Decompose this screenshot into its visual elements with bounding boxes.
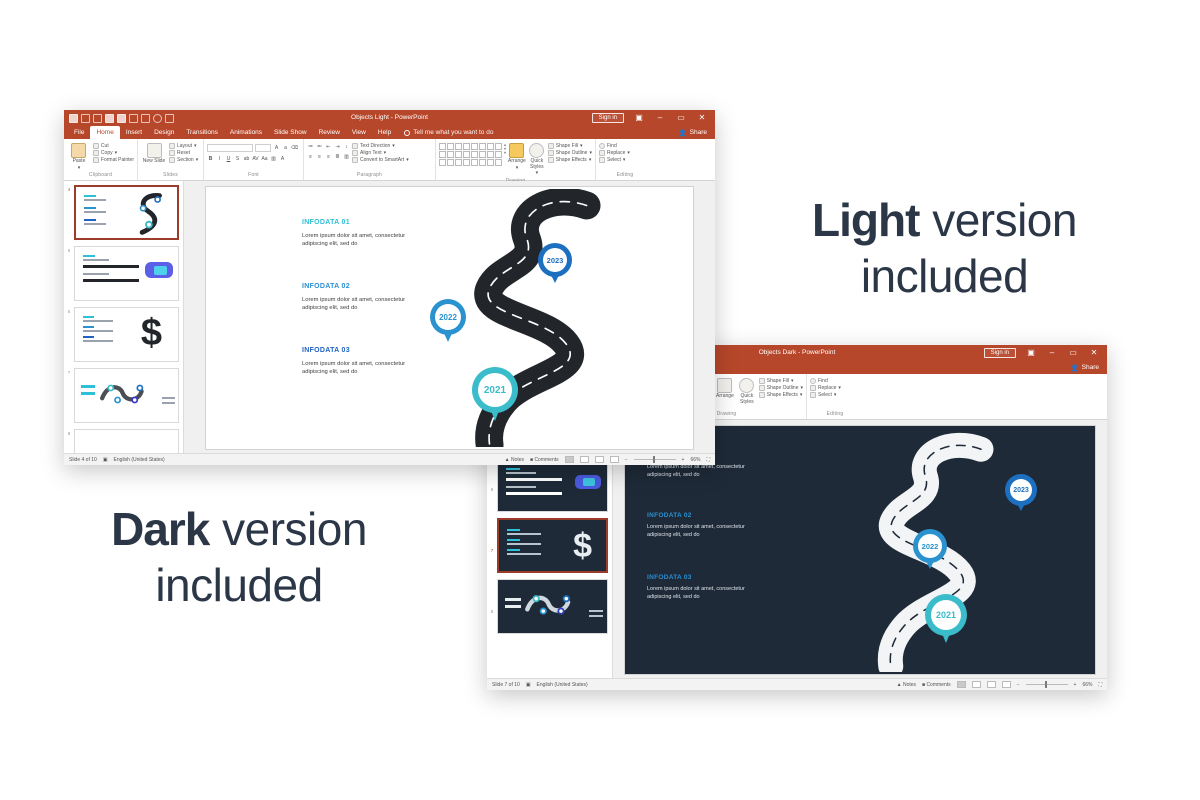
- milestone-pin-2021-dark[interactable]: 2021: [925, 594, 967, 636]
- cut-button[interactable]: Cut: [93, 143, 134, 149]
- notes-button-dark[interactable]: ▲ Notes: [897, 682, 916, 688]
- milestone-pin-2023-dark[interactable]: 2023: [1005, 474, 1037, 506]
- shape-icon[interactable]: [439, 151, 446, 158]
- zoom-slider-light[interactable]: [634, 459, 676, 460]
- pin-head: 2023: [538, 243, 572, 277]
- view-reading-dark[interactable]: [987, 681, 996, 688]
- pin-head: 2022: [913, 529, 947, 563]
- infoblock-heading: INFODATA 03: [647, 574, 767, 581]
- titlebar-light[interactable]: Objects Light - PowerPoint Sign in ▣ – ▭…: [64, 110, 715, 126]
- replace-icon-dark: [810, 385, 816, 391]
- shape-icon[interactable]: [471, 143, 478, 150]
- shape-icon[interactable]: [479, 151, 486, 158]
- close-icon-light[interactable]: ✕: [696, 114, 708, 122]
- pin-year-2022: 2022: [435, 304, 461, 330]
- thumb-number: 8: [487, 607, 497, 668]
- thumb-line: [506, 486, 536, 488]
- pin-year-2021: 2021: [931, 600, 961, 630]
- infoblock-body: Lorem ipsum dolor sit amet, consectetur …: [302, 360, 406, 377]
- new-slide-icon: [147, 143, 162, 158]
- thumb-line: [589, 610, 603, 612]
- infoblock-heading: INFODATA 01: [302, 219, 406, 226]
- view-reading-light[interactable]: [595, 456, 604, 463]
- arrange-button-dark[interactable]: Arrange: [715, 376, 735, 400]
- increase-font-size-icon[interactable]: A: [273, 145, 280, 152]
- decrease-indent-icon[interactable]: ⇤: [325, 144, 332, 151]
- tab-review[interactable]: Review: [313, 126, 346, 139]
- tell-me-box-light[interactable]: Tell me what you want to do: [404, 129, 493, 136]
- comments-button-light[interactable]: ■ Comments: [530, 457, 559, 463]
- thumbnail-slide-car-light[interactable]: [74, 246, 179, 301]
- pin-year-2021: 2021: [478, 373, 512, 407]
- thumb-heading: [84, 207, 96, 209]
- quick-styles-icon: [529, 143, 544, 158]
- thumb-heading: [83, 316, 94, 318]
- thumb-bar: [83, 265, 139, 268]
- thumbnail-slide-dollar-light[interactable]: $: [74, 307, 179, 362]
- arrange-icon: [509, 143, 524, 158]
- tab-transitions[interactable]: Transitions: [180, 126, 224, 139]
- infoblock-body: Lorem ipsum dolor sit amet, consectetur …: [302, 232, 406, 249]
- justify-icon[interactable]: ≣: [334, 154, 341, 161]
- thumb-heading: [81, 392, 95, 395]
- view-normal-dark[interactable]: [957, 681, 966, 688]
- group-label-editing: Editing: [599, 171, 651, 180]
- replace-button[interactable]: Replace ▾: [599, 150, 630, 156]
- language-label-dark[interactable]: English (United States): [537, 682, 588, 688]
- caption-dark-rest: version: [222, 503, 367, 555]
- align-left-icon[interactable]: ≡: [307, 154, 314, 161]
- pin-head: 2021: [925, 594, 967, 636]
- zoom-out-button-light[interactable]: −: [625, 457, 628, 463]
- group-label-clipboard: Clipboard: [67, 171, 134, 180]
- ribbon-group-drawing: ▴▾▾ Arrange ▾ Quick Styles ▾ Shape Fill …: [436, 139, 596, 180]
- section-icon: [169, 157, 175, 163]
- shape-effects-icon-dark: [759, 392, 765, 398]
- replace-button-dark[interactable]: Replace ▾: [810, 385, 841, 391]
- shape-icon[interactable]: [487, 151, 494, 158]
- shapes-gallery[interactable]: [439, 141, 502, 166]
- thumb-line: [507, 553, 541, 555]
- shape-icon[interactable]: [471, 159, 478, 166]
- open-file-icon[interactable]: [141, 114, 150, 123]
- thumb-line: [83, 259, 109, 261]
- shape-icon[interactable]: [495, 143, 502, 150]
- shape-fill-button[interactable]: Shape Fill ▾: [548, 143, 592, 149]
- pin-tail: [925, 559, 935, 569]
- tab-insert[interactable]: Insert: [120, 126, 148, 139]
- zoom-in-button-dark[interactable]: +: [1074, 682, 1077, 688]
- pin-tail: [550, 273, 560, 283]
- shape-icon[interactable]: [455, 151, 462, 158]
- ribbon-light[interactable]: Paste ▾ Cut Copy ▾ Format Painter Clipbo…: [64, 139, 715, 181]
- infoblock-3-light[interactable]: INFODATA 03 Lorem ipsum dolor sit amet, …: [302, 347, 406, 377]
- infoblock-heading: INFODATA 03: [302, 347, 406, 354]
- view-slideshow-dark[interactable]: [1002, 681, 1011, 688]
- shape-icon[interactable]: [455, 143, 462, 150]
- infoblock-body: Lorem ipsum dolor sit amet, consectetur …: [647, 524, 767, 540]
- editing-items: Find Replace ▾ Select ▾: [599, 141, 630, 163]
- shape-icon[interactable]: [463, 159, 470, 166]
- clear-formatting-icon[interactable]: ⌫: [291, 145, 298, 152]
- shape-icon[interactable]: [479, 143, 486, 150]
- thumb-heading: [505, 598, 521, 601]
- thumbnail-numbers-light: 4 5 6 7 8: [64, 181, 74, 453]
- paste-icon: [71, 143, 86, 158]
- restore-icon-dark[interactable]: ▭: [1067, 349, 1079, 357]
- thumb-line: [83, 273, 109, 275]
- format-painter-icon: [93, 157, 99, 163]
- thumb-winding-graphic-light: [97, 372, 157, 416]
- thumb-line: [83, 340, 113, 342]
- redo-icon[interactable]: [93, 114, 102, 123]
- thumb-heading: [84, 195, 96, 197]
- thumb-line: [162, 402, 175, 404]
- scissors-icon: [93, 143, 99, 149]
- thumbnail-slide-dollar-dark[interactable]: $: [497, 518, 608, 573]
- view-sorter-light[interactable]: [580, 456, 589, 463]
- font-name-input[interactable]: [207, 144, 253, 152]
- pin-year-2023: 2023: [543, 248, 567, 272]
- thumb-line: [83, 330, 113, 332]
- ribbon-display-options-icon-light[interactable]: ▣: [633, 114, 645, 122]
- font-color-button[interactable]: A: [279, 156, 286, 163]
- underline-button[interactable]: U: [225, 156, 232, 163]
- change-case-button[interactable]: Aa: [261, 156, 268, 163]
- tell-me-label-light: Tell me what you want to do: [413, 129, 493, 136]
- share-button-dark[interactable]: 👤 Share: [1071, 364, 1107, 372]
- zoom-in-button-light[interactable]: +: [682, 457, 685, 463]
- pin-year-2023: 2023: [1010, 479, 1032, 501]
- section-button[interactable]: Section ▾: [169, 157, 198, 163]
- infoblock-2-light[interactable]: INFODATA 02 Lorem ipsum dolor sit amet, …: [302, 283, 406, 313]
- shape-icon[interactable]: [463, 151, 470, 158]
- layout-button[interactable]: Layout ▾: [169, 143, 198, 149]
- shape-outline-icon-dark: [759, 385, 765, 391]
- thumb-road-graphic-light: [117, 189, 175, 239]
- slides-items: Layout ▾ Reset Section ▾: [169, 141, 198, 163]
- replace-icon: [599, 150, 605, 156]
- shape-effects-button-dark[interactable]: Shape Effects ▾: [759, 392, 803, 398]
- share-label-light: Share: [690, 129, 707, 136]
- quick-styles-button[interactable]: Quick Styles ▾: [528, 141, 546, 177]
- thumb-bar: [506, 492, 562, 495]
- select-button-dark[interactable]: Select ▾: [810, 392, 841, 398]
- align-center-icon[interactable]: ≡: [316, 154, 323, 161]
- undo-icon[interactable]: [81, 114, 90, 123]
- quick-styles-icon-dark: [739, 378, 754, 393]
- thumb-heading: [507, 549, 520, 551]
- layout-icon: [169, 143, 175, 149]
- thumb-line: [507, 543, 541, 545]
- columns-icon[interactable]: ▥: [343, 154, 350, 161]
- thumb-number: 6: [487, 485, 497, 546]
- group-label-editing-dark: Editing: [810, 410, 860, 419]
- slide-canvas-light[interactable]: INFODATA 01 Lorem ipsum dolor sit amet, …: [206, 187, 693, 449]
- share-label-dark: Share: [1082, 364, 1099, 371]
- group-label-paragraph: Paragraph: [307, 171, 432, 180]
- save-icon[interactable]: [69, 114, 78, 123]
- shape-icon[interactable]: [447, 151, 454, 158]
- shape-icon[interactable]: [439, 159, 446, 166]
- infoblock-heading: INFODATA 02: [647, 512, 767, 519]
- numbering-icon[interactable]: ≕: [316, 144, 323, 151]
- tab-home[interactable]: Home: [90, 126, 119, 139]
- pin-head: 2022: [430, 299, 466, 335]
- thumb-bar: [83, 279, 139, 282]
- strikethrough-button[interactable]: ab: [243, 156, 250, 163]
- comments-button-dark[interactable]: ■ Comments: [922, 682, 951, 688]
- page-root: Objects Dark - PowerPoint Sign in ▣ – ▭ …: [0, 0, 1200, 800]
- thumb-number: 6: [64, 307, 74, 368]
- fit-slide-icon-light[interactable]: ⛶: [706, 457, 710, 463]
- thumbnail-slide-blank-light[interactable]: [74, 429, 179, 453]
- thumbnail-slide-winding-dark[interactable]: [497, 579, 608, 634]
- shape-fill-button-dark[interactable]: Shape Fill ▾: [759, 378, 803, 384]
- minimize-icon-dark[interactable]: –: [1046, 349, 1058, 357]
- fit-slide-icon-dark[interactable]: ⛶: [1098, 682, 1102, 688]
- bullets-icon[interactable]: ≔: [307, 144, 314, 151]
- close-icon-dark[interactable]: ✕: [1088, 349, 1100, 357]
- copy-button[interactable]: Copy ▾: [93, 150, 134, 156]
- pin-head: 2021: [472, 367, 518, 413]
- customize-qat-icon[interactable]: [165, 114, 174, 123]
- quick-access-toolbar-light[interactable]: [64, 114, 174, 123]
- restore-icon-light[interactable]: ▭: [675, 114, 687, 122]
- reset-button[interactable]: Reset: [169, 150, 198, 156]
- italic-button[interactable]: I: [216, 156, 223, 163]
- search-icon-dark: [810, 378, 816, 384]
- caption-dark-version: Dark version included: [84, 505, 394, 610]
- thumbnail-slide-winding-light[interactable]: [74, 368, 179, 423]
- shape-icon[interactable]: [455, 159, 462, 166]
- align-text-icon: [352, 150, 358, 156]
- caption-light-rest: version: [932, 194, 1077, 246]
- increase-indent-icon[interactable]: ⇥: [334, 144, 341, 151]
- ribbon-display-options-icon-dark[interactable]: ▣: [1025, 349, 1037, 357]
- line-spacing-icon[interactable]: ↕: [343, 144, 350, 151]
- infoblock-heading: INFODATA 02: [302, 283, 406, 290]
- shape-effects-button[interactable]: Shape Effects ▾: [548, 157, 592, 163]
- thumb-heading: [81, 385, 95, 388]
- shape-icon[interactable]: [495, 151, 502, 158]
- tab-slide-show[interactable]: Slide Show: [268, 126, 313, 139]
- tab-design[interactable]: Design: [148, 126, 180, 139]
- shape-outline-icon: [548, 150, 554, 156]
- shape-icon[interactable]: [463, 143, 470, 150]
- ribbon-tabs-light[interactable]: File Home Insert Design Transitions Anim…: [64, 126, 715, 139]
- workarea-light: 4 5 6 7 8: [64, 181, 715, 453]
- tab-view[interactable]: View: [346, 126, 372, 139]
- select-button[interactable]: Select ▾: [599, 157, 630, 163]
- notes-button-light[interactable]: ▲ Notes: [505, 457, 524, 463]
- ribbon-group-paragraph: ≔ ≕ ⇤ ⇥ ↕ ≡ ≡ ≡ ≣ ▥: [304, 139, 436, 180]
- decrease-font-size-icon[interactable]: a: [282, 145, 289, 152]
- drawing-items: Shape Fill ▾ Shape Outline ▾ Shape Effec…: [548, 141, 592, 163]
- search-icon: [599, 143, 605, 149]
- shape-icon[interactable]: [479, 159, 486, 166]
- thumb-number: 7: [64, 368, 74, 429]
- thumb-line: [162, 397, 175, 399]
- statusbar-dark[interactable]: Slide 7 of 10 ▣ English (United States) …: [487, 678, 1107, 690]
- paste-button[interactable]: Paste ▾: [67, 141, 91, 171]
- pin-tail: [443, 331, 453, 342]
- milestone-pin-2022-light[interactable]: 2022: [430, 299, 466, 335]
- shape-outline-button-dark[interactable]: Shape Outline ▾: [759, 385, 803, 391]
- caption-light-strong: Light: [812, 194, 919, 246]
- align-text-button[interactable]: Align Text ▾: [352, 150, 409, 156]
- smartart-icon: [352, 157, 358, 163]
- zoom-slider-dark[interactable]: [1026, 684, 1068, 685]
- group-label-font: Font: [207, 171, 300, 180]
- find-button[interactable]: Find: [599, 143, 630, 149]
- select-icon: [599, 157, 605, 163]
- tab-animations[interactable]: Animations: [224, 126, 268, 139]
- pin-tail: [490, 408, 500, 421]
- window-controls-light[interactable]: Sign in ▣ – ▭ ✕: [592, 113, 715, 123]
- shape-icon[interactable]: [471, 151, 478, 158]
- shadow-button[interactable]: S: [234, 156, 241, 163]
- convert-smartart-button[interactable]: Convert to SmartArt ▾: [352, 157, 409, 163]
- thumb-heading: [506, 468, 520, 470]
- thumb-dollar-graphic-dark: $: [573, 526, 592, 566]
- milestone-pin-2022-dark[interactable]: 2022: [913, 529, 947, 563]
- shape-fill-icon: [548, 143, 554, 149]
- thumb-line: [589, 615, 603, 617]
- pin-tail: [1016, 502, 1026, 511]
- slide-counter-light: Slide 4 of 10: [69, 457, 97, 463]
- thumbnail-pane-light[interactable]: 4 5 6 7 8: [64, 181, 184, 453]
- thumb-heading: [507, 529, 520, 531]
- thumb-line: [84, 211, 106, 213]
- thumb-number: 8: [64, 429, 74, 453]
- align-right-icon[interactable]: ≡: [325, 154, 332, 161]
- shape-outline-button[interactable]: Shape Outline ▾: [548, 150, 592, 156]
- character-spacing-button[interactable]: AV: [252, 156, 259, 163]
- thumb-line: [84, 223, 106, 225]
- milestone-pin-2021-light[interactable]: 2021: [472, 367, 518, 413]
- shape-icon[interactable]: [487, 143, 494, 150]
- view-slideshow-light[interactable]: [610, 456, 619, 463]
- sign-in-button-light[interactable]: Sign in: [592, 113, 624, 123]
- tab-help[interactable]: Help: [372, 126, 397, 139]
- ribbon-group-slides: New Slide Layout ▾ Reset Section ▾ Slide…: [138, 139, 204, 180]
- thumb-car-window-light: [154, 266, 167, 275]
- caption-dark-strong: Dark: [111, 503, 209, 555]
- person-icon-light: 👤: [679, 129, 687, 137]
- lightbulb-icon-light: [404, 130, 410, 136]
- shape-fill-icon-dark: [759, 378, 765, 384]
- shape-icon[interactable]: [447, 143, 454, 150]
- view-sorter-dark[interactable]: [972, 681, 981, 688]
- thumb-heading: [84, 219, 96, 221]
- slide-stage-light: INFODATA 01 Lorem ipsum dolor sit amet, …: [184, 181, 715, 453]
- text-direction-button[interactable]: Text Direction ▾: [352, 143, 409, 149]
- sign-in-button-dark[interactable]: Sign in: [984, 348, 1016, 358]
- touch-mode-icon[interactable]: [153, 114, 162, 123]
- thumbnail-slide-road-light[interactable]: [74, 185, 179, 240]
- tab-file[interactable]: File: [68, 126, 90, 139]
- thumbnail-slide-car-dark[interactable]: [497, 457, 608, 512]
- font-size-input[interactable]: [255, 144, 271, 152]
- thumb-line: [83, 320, 113, 322]
- spellcheck-icon-light[interactable]: ▣: [103, 457, 108, 463]
- start-slideshow-icon[interactable]: [105, 114, 114, 123]
- thumbnail-list-light[interactable]: $: [74, 181, 183, 453]
- ribbon-group-clipboard: Paste ▾ Cut Copy ▾ Format Painter Clipbo…: [64, 139, 138, 180]
- thumb-line: [84, 199, 106, 201]
- slide-counter-dark: Slide 7 of 10: [492, 682, 520, 688]
- new-file-icon[interactable]: [129, 114, 138, 123]
- caption-light-line2: included: [812, 252, 1077, 302]
- language-label-light[interactable]: English (United States): [114, 457, 165, 463]
- quick-styles-button-dark[interactable]: Quick Styles: [737, 376, 757, 405]
- zoom-out-button-dark[interactable]: −: [1017, 682, 1020, 688]
- format-painter-button[interactable]: Format Painter: [93, 157, 134, 163]
- person-icon-dark: 👤: [1071, 364, 1079, 372]
- share-button-light[interactable]: 👤 Share: [679, 129, 715, 137]
- thumb-number: 5: [64, 246, 74, 307]
- shapes-scroll-controls[interactable]: ▴▾▾: [504, 141, 506, 155]
- thumb-dollar-graphic-light: $: [141, 311, 162, 355]
- powerpoint-window-light[interactable]: Objects Light - PowerPoint Sign in ▣ – ▭…: [64, 110, 715, 465]
- arrange-dropdown-icon[interactable]: ▾: [516, 166, 519, 172]
- presenter-view-icon[interactable]: [117, 114, 126, 123]
- group-label-slides: Slides: [141, 171, 200, 180]
- copy-icon: [93, 150, 99, 156]
- window-controls-dark[interactable]: Sign in ▣ – ▭ ✕: [984, 348, 1107, 358]
- shape-icon[interactable]: [447, 159, 454, 166]
- infoblock-2-dark[interactable]: INFODATA 02 Lorem ipsum dolor sit amet, …: [647, 512, 767, 540]
- shape-icon[interactable]: [439, 143, 446, 150]
- milestone-pin-2023-light[interactable]: 2023: [538, 243, 572, 277]
- infoblock-1-light[interactable]: INFODATA 01 Lorem ipsum dolor sit amet, …: [302, 219, 406, 249]
- bold-button[interactable]: B: [207, 156, 214, 163]
- infoblock-body: Lorem ipsum dolor sit amet, consectetur …: [302, 296, 406, 313]
- view-normal-light[interactable]: [565, 456, 574, 463]
- find-button-dark[interactable]: Find: [810, 378, 841, 384]
- shape-icon[interactable]: [487, 159, 494, 166]
- thumb-line: [506, 472, 536, 474]
- zoom-level-light[interactable]: 66%: [690, 457, 700, 463]
- pin-year-2022: 2022: [918, 534, 942, 558]
- minimize-icon-light[interactable]: –: [654, 114, 666, 122]
- ribbon-group-editing: Find Replace ▾ Select ▾ Editing: [596, 139, 654, 180]
- arrange-button[interactable]: Arrange ▾: [508, 141, 526, 171]
- shape-effects-icon: [548, 157, 554, 163]
- infoblock-3-dark[interactable]: INFODATA 03 Lorem ipsum dolor sit amet, …: [647, 574, 767, 602]
- text-direction-icon: [352, 143, 358, 149]
- thumb-heading: [505, 605, 521, 608]
- reset-icon: [169, 150, 175, 156]
- thumb-car-window-dark: [583, 478, 595, 486]
- ribbon-group-font: A a ⌫ B I U S ab AV Aa ▥ A: [204, 139, 304, 180]
- pin-tail: [941, 631, 951, 643]
- spellcheck-icon-dark[interactable]: ▣: [526, 682, 531, 688]
- shape-icon[interactable]: [495, 159, 502, 166]
- thumb-heading: [83, 326, 94, 328]
- thumb-line: [507, 533, 541, 535]
- statusbar-light[interactable]: Slide 4 of 10 ▣ English (United States) …: [64, 453, 715, 465]
- new-slide-button[interactable]: New Slide: [141, 141, 167, 165]
- select-icon-dark: [810, 392, 816, 398]
- thumb-winding-graphic-dark: [522, 584, 584, 624]
- zoom-level-dark[interactable]: 66%: [1082, 682, 1092, 688]
- arrange-icon-dark: [717, 378, 732, 393]
- thumb-heading: [83, 336, 94, 338]
- clipboard-items: Cut Copy ▾ Format Painter: [93, 141, 134, 163]
- text-highlight-button[interactable]: ▥: [270, 156, 277, 163]
